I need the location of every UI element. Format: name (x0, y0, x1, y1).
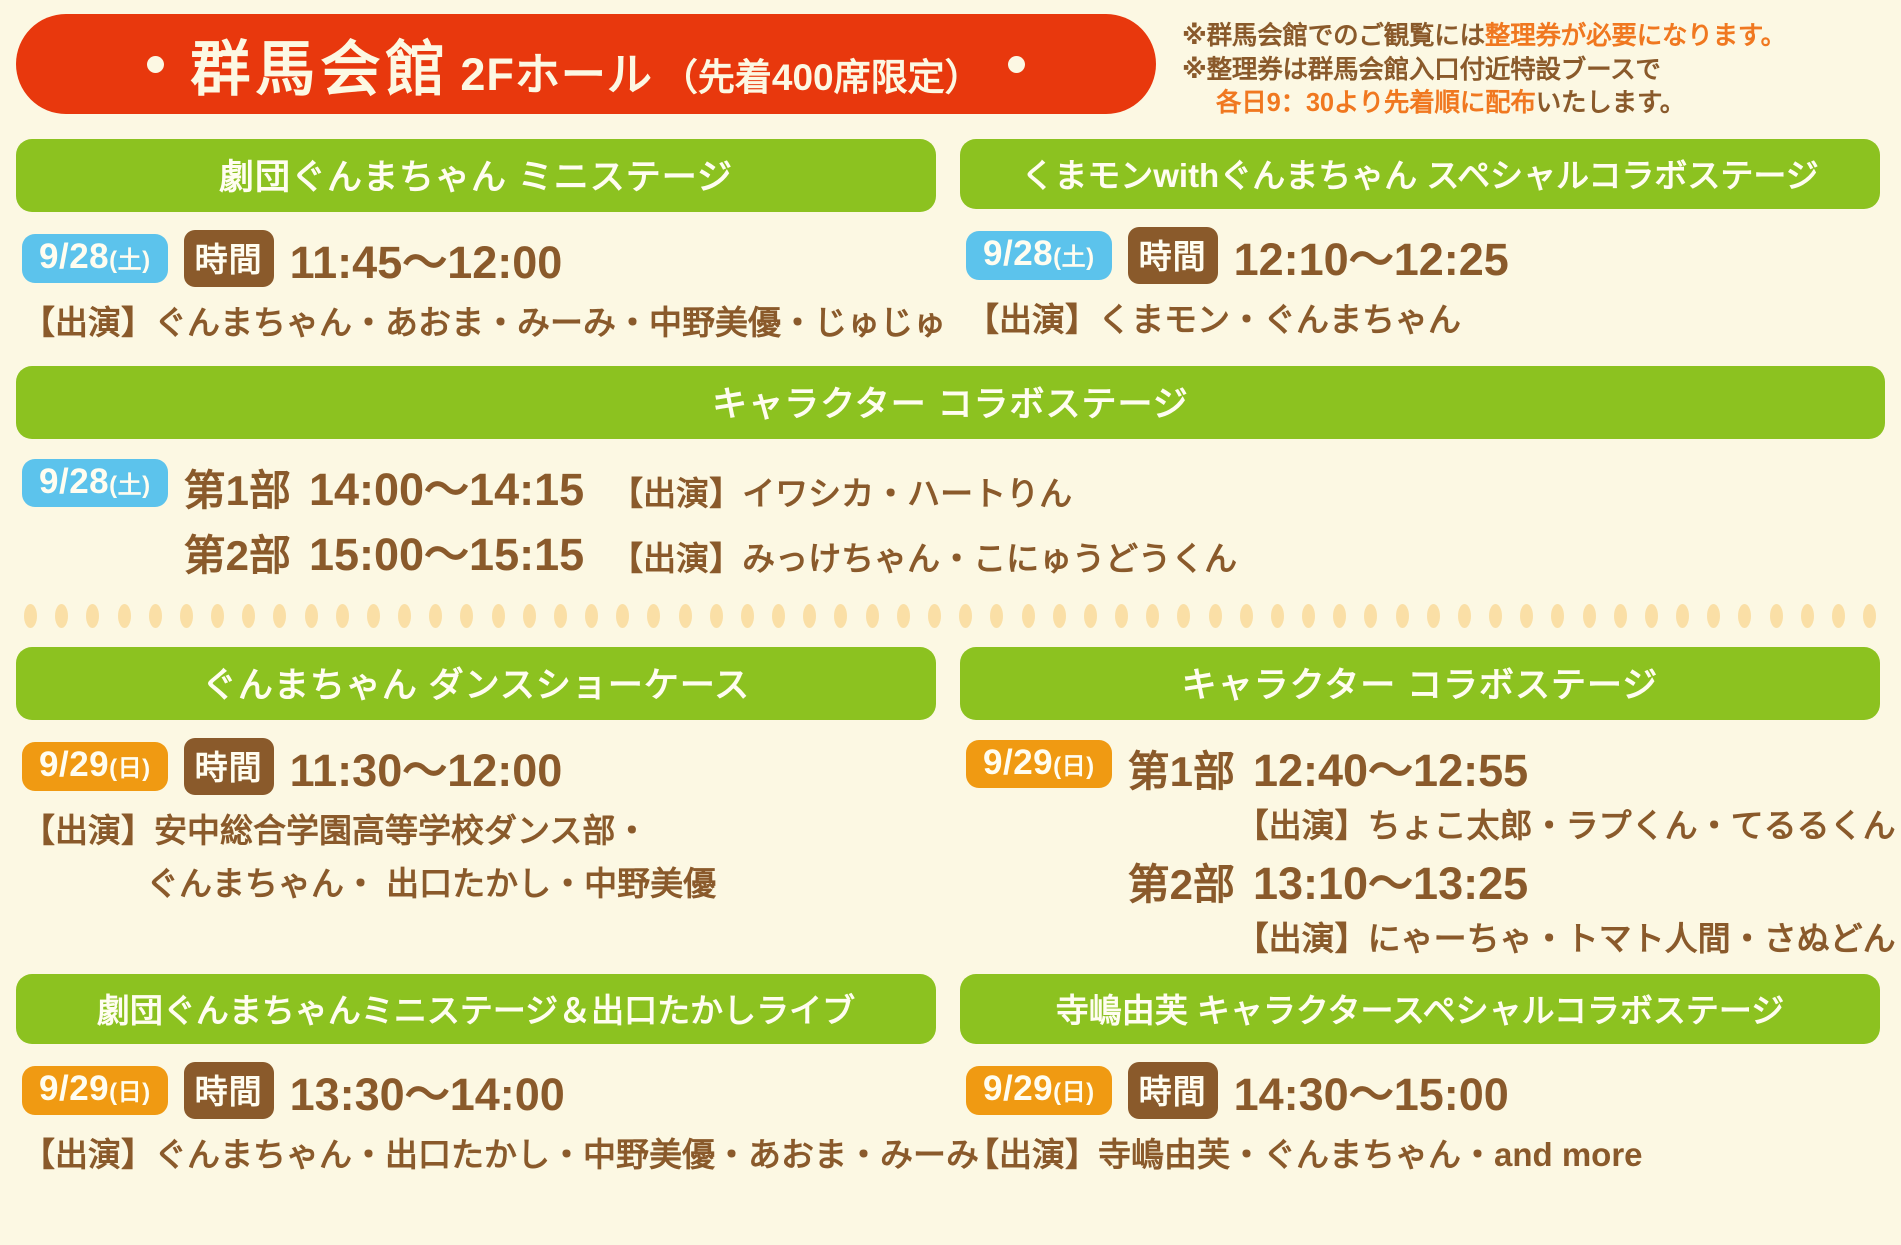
divider-dot (959, 604, 972, 628)
parts-list: 第1部 12:40〜12:55 【出演】ちょこ太郎・ラプくん・てるるくん 第2部… (1128, 734, 1896, 960)
time-range: 11:30〜12:00 (290, 734, 563, 799)
day1-row-1: 劇団ぐんまちゃん ミニステージ 9/28(土) 時間 11:45〜12:00 【… (16, 139, 1885, 344)
part-row: 第2部 15:00〜15:15 【出演】みっけちゃん・こにゅうどうくん (184, 518, 1238, 583)
divider-dot (1676, 604, 1689, 628)
divider-dot (1333, 604, 1346, 628)
divider-dot (1209, 604, 1222, 628)
date-text: 9/28 (983, 234, 1053, 273)
divider-dot (1396, 604, 1409, 628)
block-gekidan-live: 劇団ぐんまちゃんミニステージ＆出口たかしライブ 9/29(日) 時間 13:30… (16, 974, 936, 1176)
dot-icon-left (147, 56, 164, 73)
block-title: 劇団ぐんまちゃんミニステージ＆出口たかしライブ (16, 974, 936, 1044)
part-label: 第2部 (1128, 851, 1235, 912)
date-badge: 9/29(日) (22, 1066, 168, 1114)
schedule-line: 9/28(土) 時間 12:10〜12:25 (966, 223, 1874, 288)
note-1-text-a: ※群馬会館でのご観覧には (1182, 22, 1485, 50)
day2-row-1: ぐんまちゃん ダンスショーケース 9/29(日) 時間 11:30〜12:00 … (16, 647, 1885, 960)
date-text: 9/29 (983, 743, 1053, 782)
divider-dot (86, 604, 99, 628)
weekday-text: (土) (109, 247, 150, 274)
date-badge: 9/29(日) (966, 1066, 1112, 1114)
divider-dot (1115, 604, 1128, 628)
divider-dot (1022, 604, 1035, 628)
date-text: 9/28 (39, 462, 109, 501)
divider-dot (55, 604, 68, 628)
divider-dot (1551, 604, 1564, 628)
note-3-text-b: いたします。 (1536, 89, 1685, 117)
block-body: 9/29(日) 時間 11:30〜12:00 【出演】安中総合学園高等学校ダンス… (16, 720, 936, 905)
block-body: 9/28(土) 第1部 14:00〜14:15 【出演】イワシカ・ハートりん 第… (16, 439, 1885, 583)
divider-dot (24, 604, 37, 628)
block-body: 9/28(土) 時間 11:45〜12:00 【出演】ぐんまちゃん・あおま・みー… (16, 212, 936, 344)
part-cast: 【出演】イワシカ・ハートりん (610, 467, 1072, 515)
block-title: キャラクター コラボステージ (960, 647, 1880, 720)
note-3-text-a: 各日9：30より先着順に配布 (1216, 89, 1536, 117)
divider-dot (616, 604, 629, 628)
block-gekidan-mini-stage: 劇団ぐんまちゃん ミニステージ 9/28(土) 時間 11:45〜12:00 【… (16, 139, 936, 344)
divider-dot (1146, 604, 1159, 628)
divider-dot (1489, 604, 1502, 628)
divider-dot (866, 604, 879, 628)
part-row: 第1部 14:00〜14:15 【出演】イワシカ・ハートりん (184, 453, 1238, 518)
divider-dot (990, 604, 1003, 628)
header-row: 群馬会館 2Fホール （先着400席限定） ※群馬会館でのご観覧には整理券が必要… (0, 0, 1901, 121)
divider-dot (118, 604, 131, 628)
divider-dot (803, 604, 816, 628)
divider-dot (1177, 604, 1190, 628)
dot-icon-right (1008, 56, 1025, 73)
part-time: 14:00〜14:15 (309, 453, 584, 518)
parts-container: 9/29(日) 第1部 12:40〜12:55 【出演】ちょこ太郎・ラプくん・て… (966, 734, 1874, 960)
venue-title: 群馬会館 2Fホール （先着400席限定） (190, 21, 981, 108)
dotted-divider (24, 599, 1877, 633)
time-range: 14:30〜15:00 (1234, 1058, 1509, 1123)
part-label: 第1部 (184, 457, 291, 518)
block-terashima-collab: 寺嶋由芙 キャラクタースペシャルコラボステージ 9/29(日) 時間 14:30… (960, 974, 1880, 1176)
time-range: 12:10〜12:25 (1234, 223, 1509, 288)
part-cast: 【出演】にゃーちゃ・トマト人間・さぬどん (1128, 912, 1896, 960)
divider-dot (242, 604, 255, 628)
weekday-text: (土) (109, 472, 150, 499)
note-line-1: ※群馬会館でのご観覧には整理券が必要になります。 (1182, 20, 1885, 54)
date-text: 9/28 (39, 237, 109, 276)
part-row: 第1部 12:40〜12:55 (1128, 734, 1896, 799)
schedule-line: 9/29(日) 時間 11:30〜12:00 (22, 734, 930, 799)
divider-dot (523, 604, 536, 628)
time-label-badge: 時間 (184, 738, 274, 795)
divider-dot (1271, 604, 1284, 628)
parts-list: 第1部 14:00〜14:15 【出演】イワシカ・ハートりん 第2部 15:00… (184, 453, 1238, 583)
divider-dot (1832, 604, 1845, 628)
divider-dot (273, 604, 286, 628)
date-badge: 9/28(土) (22, 459, 168, 507)
venue-capacity-note: （先着400席限定） (661, 47, 982, 101)
weekday-text: (日) (109, 755, 150, 782)
event-schedule-poster: 群馬会館 2Fホール （先着400席限定） ※群馬会館でのご観覧には整理券が必要… (0, 0, 1901, 1245)
divider-dot (1707, 604, 1720, 628)
divider-dot (1053, 604, 1066, 628)
note-line-3: 各日9：30より先着順に配布いたします。 (1182, 87, 1885, 121)
part-label: 第1部 (1128, 738, 1235, 799)
day2-row-2: 劇団ぐんまちゃんミニステージ＆出口たかしライブ 9/29(日) 時間 13:30… (16, 974, 1885, 1176)
divider-dot (305, 604, 318, 628)
divider-dot (398, 604, 411, 628)
weekday-text: (日) (1053, 753, 1094, 780)
block-title: キャラクター コラボステージ (16, 366, 1885, 439)
block-title: くまモンwithぐんまちゃん スペシャルコラボステージ (960, 139, 1880, 209)
divider-dot (679, 604, 692, 628)
part-time: 13:10〜13:25 (1253, 847, 1528, 912)
divider-dot (585, 604, 598, 628)
part-time: 15:00〜15:15 (309, 518, 584, 583)
divider-dot (928, 604, 941, 628)
divider-dot (1427, 604, 1440, 628)
divider-dot (1614, 604, 1627, 628)
divider-dot (492, 604, 505, 628)
divider-dot (741, 604, 754, 628)
block-body: 9/29(日) 時間 13:30〜14:00 【出演】ぐんまちゃん・出口たかし・… (16, 1044, 936, 1176)
divider-dot (180, 604, 193, 628)
part-time: 12:40〜12:55 (1253, 734, 1528, 799)
divider-dot (1458, 604, 1471, 628)
block-body: 9/28(土) 時間 12:10〜12:25 【出演】くまモン・ぐんまちゃん (960, 209, 1880, 341)
divider-dot (429, 604, 442, 628)
divider-dot (554, 604, 567, 628)
note-1-text-b: 整理券が必要になります。 (1485, 22, 1786, 50)
time-range: 13:30〜14:00 (290, 1058, 565, 1123)
venue-banner: 群馬会館 2Fホール （先着400席限定） (16, 14, 1156, 114)
divider-dot (647, 604, 660, 628)
part-cast: 【出演】ちょこ太郎・ラプくん・てるるくん (1128, 799, 1896, 847)
divider-dot (1364, 604, 1377, 628)
divider-dot (367, 604, 380, 628)
date-badge: 9/29(日) (22, 742, 168, 790)
time-range: 11:45〜12:00 (290, 226, 563, 291)
time-label-badge: 時間 (184, 230, 274, 287)
block-title: 劇団ぐんまちゃん ミニステージ (16, 139, 936, 212)
divider-dot (897, 604, 910, 628)
divider-dot (1801, 604, 1814, 628)
block-title: 寺嶋由芙 キャラクタースペシャルコラボステージ (960, 974, 1880, 1044)
parts-container: 9/28(土) 第1部 14:00〜14:15 【出演】イワシカ・ハートりん 第… (22, 453, 1879, 583)
block-body: 9/29(日) 第1部 12:40〜12:55 【出演】ちょこ太郎・ラプくん・て… (960, 720, 1880, 960)
block-character-collab-day1: キャラクター コラボステージ 9/28(土) 第1部 14:00〜14:15 【… (16, 366, 1885, 583)
divider-dot (336, 604, 349, 628)
block-dance-showcase: ぐんまちゃん ダンスショーケース 9/29(日) 時間 11:30〜12:00 … (16, 647, 936, 960)
block-title: ぐんまちゃん ダンスショーケース (16, 647, 936, 720)
divider-dot (1770, 604, 1783, 628)
time-label-badge: 時間 (1128, 227, 1218, 284)
schedule-line: 9/29(日) 時間 14:30〜15:00 (966, 1058, 1874, 1123)
cast-line: 【出演】くまモン・ぐんまちゃん (966, 293, 1874, 341)
divider-dot (1863, 604, 1876, 628)
block-body: 9/29(日) 時間 14:30〜15:00 【出演】寺嶋由芙・ぐんまちゃん・a… (960, 1044, 1880, 1176)
part-label: 第2部 (184, 522, 291, 583)
weekday-text: (日) (1053, 1079, 1094, 1106)
date-text: 9/29 (39, 1069, 109, 1108)
divider-dot (460, 604, 473, 628)
venue-name: 群馬会館 (190, 21, 450, 108)
ticket-notes: ※群馬会館でのご観覧には整理券が必要になります。 ※整理券は群馬会館入口付近特設… (1182, 14, 1885, 121)
divider-dot (1645, 604, 1658, 628)
weekday-text: (日) (109, 1079, 150, 1106)
weekday-text: (土) (1053, 244, 1094, 271)
divider-dot (1583, 604, 1596, 628)
date-text: 9/29 (983, 1069, 1053, 1108)
schedule-content: 劇団ぐんまちゃん ミニステージ 9/28(土) 時間 11:45〜12:00 【… (0, 139, 1901, 1176)
cast-line-2: ぐんまちゃん・ 出口たかし・中野美優 (22, 857, 930, 905)
cast-line: 【出演】ぐんまちゃん・あおま・みーみ・中野美優・じゅじゅ (22, 296, 930, 344)
schedule-line: 9/29(日) 時間 13:30〜14:00 (22, 1058, 930, 1123)
date-badge: 9/29(日) (966, 740, 1112, 788)
divider-dot (772, 604, 785, 628)
divider-dot (710, 604, 723, 628)
divider-dot (211, 604, 224, 628)
time-label-badge: 時間 (184, 1062, 274, 1119)
cast-line: 【出演】寺嶋由芙・ぐんまちゃん・and more (966, 1128, 1874, 1176)
note-2-text-a: ※整理券は群馬会館入口付近特設ブースで (1182, 56, 1661, 84)
divider-dot (1520, 604, 1533, 628)
schedule-line: 9/28(土) 時間 11:45〜12:00 (22, 226, 930, 291)
time-label-badge: 時間 (1128, 1062, 1218, 1119)
block-character-collab-day2: キャラクター コラボステージ 9/29(日) 第1部 12:40〜12:55 【… (960, 647, 1880, 960)
cast-line-1: 【出演】安中総合学園高等学校ダンス部・ (22, 804, 930, 852)
part-row: 第2部 13:10〜13:25 (1128, 847, 1896, 912)
day1-row-2: キャラクター コラボステージ 9/28(土) 第1部 14:00〜14:15 【… (16, 366, 1885, 583)
divider-dot (834, 604, 847, 628)
divider-dot (1240, 604, 1253, 628)
note-line-2: ※整理券は群馬会館入口付近特設ブースで (1182, 54, 1885, 88)
cast-line: 【出演】ぐんまちゃん・出口たかし・中野美優・あおま・みーみ (22, 1128, 930, 1176)
venue-hall: 2Fホール (460, 38, 653, 103)
date-badge: 9/28(土) (22, 234, 168, 282)
divider-dot (1302, 604, 1315, 628)
block-kumamon-collab-stage: くまモンwithぐんまちゃん スペシャルコラボステージ 9/28(土) 時間 1… (960, 139, 1880, 344)
divider-dot (149, 604, 162, 628)
date-badge: 9/28(土) (966, 231, 1112, 279)
divider-dot (1738, 604, 1751, 628)
date-text: 9/29 (39, 745, 109, 784)
divider-dot (1084, 604, 1097, 628)
part-cast: 【出演】みっけちゃん・こにゅうどうくん (610, 532, 1237, 580)
